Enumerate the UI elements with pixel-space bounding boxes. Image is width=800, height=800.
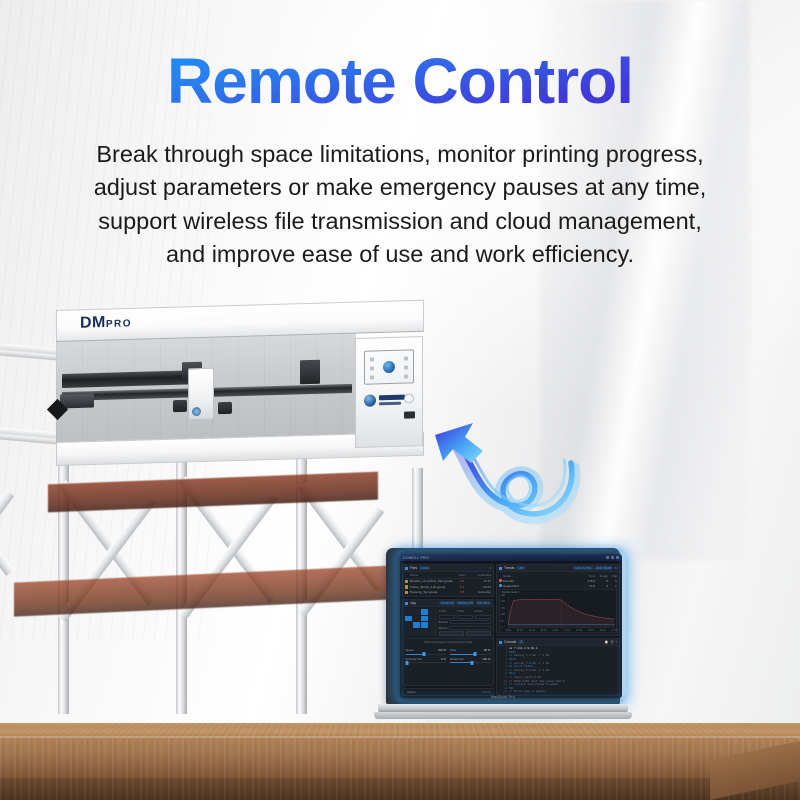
slider-speed-row: Speed 100 % — [406, 648, 447, 652]
move-icon — [405, 602, 408, 605]
files-panel: Files Local ▾ Name Size Uploaded — [402, 564, 494, 597]
chart-y-tick: 100 — [501, 613, 505, 616]
table-row[interactable]: Housing_Top.gcode 7.8 Yesterday — [405, 590, 491, 596]
dowell-3d-logo-subtext — [379, 402, 401, 406]
table-row[interactable]: Bracket_v4.stl Pick_Part.gcode 2.4 11:42 — [405, 579, 491, 585]
jog-panel: Jog Home All Motors Off Set Zero — [402, 599, 494, 686]
y-pos-field[interactable] — [457, 615, 473, 619]
touchscreen-icon — [370, 375, 374, 379]
files-panel-badge[interactable]: Local — [419, 566, 430, 570]
jog-button[interactable] — [405, 622, 412, 628]
trends-live-badge: Live — [516, 566, 525, 570]
chart-x-tick: 11:22 — [505, 629, 511, 632]
chart-x-tick: 12:16 — [611, 629, 617, 632]
app-window-title: DOWELL PRO — [403, 556, 429, 560]
3d-printer: DMPRO — [0, 296, 430, 716]
printer-control-box[interactable] — [355, 336, 423, 448]
fan-duct — [173, 400, 187, 412]
table-row[interactable]: Extruder 178.2 0 C — [499, 578, 617, 583]
file-name: Frame_Mount_Left.gcode — [410, 585, 453, 589]
copy-icon[interactable]: 📋 — [605, 640, 609, 644]
jog-button[interactable] — [430, 622, 437, 628]
files-panel-header: Files Local ▾ — [403, 565, 493, 572]
jog-pad[interactable] — [405, 609, 437, 636]
slider-flow[interactable]: Flow 98 % — [450, 648, 491, 655]
console-actions[interactable]: 📋 🗑 ▾ — [605, 640, 617, 644]
slider-fill — [406, 654, 424, 655]
series-target[interactable]: 0 — [595, 579, 608, 583]
printer-brand-label: DMPRO — [80, 313, 132, 332]
col-name: Name — [503, 574, 582, 578]
touchscreen-icon — [404, 366, 408, 370]
touchscreen-icon — [370, 357, 374, 361]
extrude-label: Extrude — [439, 620, 449, 624]
jog-fields: X Pos Y Pos Z Pos Ext — [439, 609, 491, 636]
jog-panel-buttons[interactable]: Home All Motors Off Set Zero — [439, 601, 491, 605]
maximize-icon[interactable] — [611, 556, 614, 559]
console-badge: G — [518, 640, 523, 644]
auto-scale-button[interactable]: Auto Scale — [594, 566, 612, 570]
chart-x-tick: 11:28 — [517, 629, 523, 632]
files-panel-actions[interactable]: ▾ — [489, 566, 491, 570]
dowell-3d-logo-text — [379, 395, 405, 401]
jog-button-down[interactable] — [413, 622, 420, 628]
power-knob-icon[interactable] — [404, 393, 414, 403]
chart-svg — [500, 590, 616, 632]
trends-panel-title: Trends — [504, 566, 514, 570]
subtitle-line-3: support wireless file transmission and c… — [22, 205, 778, 238]
slider-model-fan[interactable]: Model Fan 100 % — [450, 657, 491, 664]
jog-step-button[interactable] — [405, 629, 412, 635]
jog-panel-title: Jog — [410, 601, 415, 605]
chart-y-tick: 150 — [501, 607, 505, 610]
console-output[interactable]: 1ok T:210.4 B:60.02M1053// moving X 4.00… — [497, 646, 619, 695]
file-uploaded: 09:05 — [471, 585, 491, 589]
jog-step-button[interactable] — [430, 629, 437, 635]
sd-card-slot-icon[interactable] — [404, 411, 415, 418]
file-size: 5.1 — [455, 585, 469, 589]
window-controls[interactable] — [606, 556, 619, 559]
slider-flow-row: Flow 98 % — [450, 648, 491, 652]
desk-underside — [0, 778, 800, 800]
chart-x-tick: 12:10 — [599, 629, 605, 632]
position-labels: X Pos Y Pos Z Pos — [439, 609, 491, 613]
home-all-button[interactable]: Home All — [439, 601, 455, 605]
status-badge: Ready — [482, 690, 491, 694]
slider-extruder-fan-row: Extruder Fan 0 % — [406, 657, 447, 661]
series-unit: C — [608, 584, 617, 588]
minimize-icon[interactable] — [606, 556, 609, 559]
slider-grid: Speed 100 % Flow — [403, 646, 493, 666]
extrude-row: Extrude — [439, 620, 491, 624]
file-uploaded: 11:42 — [471, 579, 491, 583]
file-size: 2.4 — [455, 579, 469, 583]
slider-speed[interactable]: Speed 100 % — [406, 648, 447, 655]
slider-extruder-fan-value: 0 % — [441, 657, 446, 661]
z-pos-label: Z Pos — [475, 609, 491, 613]
chevron-down-icon[interactable]: ▾ — [615, 640, 617, 644]
file-uploaded: Yesterday — [471, 590, 491, 594]
file-icon — [405, 585, 408, 589]
slider-knob[interactable] — [406, 661, 409, 665]
file-name: Housing_Top.gcode — [410, 590, 453, 594]
slider-fill — [450, 654, 475, 655]
laptop-model-label: MacBook Pro — [378, 695, 628, 699]
motors-off-button[interactable]: Motors Off — [456, 601, 474, 605]
table-row[interactable]: Heated Bed 24.0 0 C — [499, 583, 617, 588]
series-target[interactable]: 0 — [595, 584, 608, 588]
retract-label: Retract — [439, 626, 448, 630]
col-target: Target — [595, 574, 608, 578]
touchscreen-icon — [404, 375, 408, 379]
series-now: 24.0 — [582, 584, 595, 588]
x-pos-label: X Pos — [439, 609, 455, 613]
slider-model-fan-track[interactable] — [450, 662, 491, 663]
jog-hint: Click and drag to move the print head — [403, 638, 493, 646]
slider-knob[interactable] — [471, 661, 474, 665]
print-head — [188, 368, 214, 421]
slider-flow-track[interactable] — [450, 654, 491, 655]
jog-button[interactable] — [413, 609, 420, 615]
series-name: Extruder — [503, 579, 582, 583]
dowell-3d-logo-icon — [364, 394, 376, 406]
chart-x-tick: 11:58 — [576, 629, 582, 632]
console-panel-header: Console G 📋 🗑 ▾ — [497, 639, 619, 646]
trends-table: Name Now Target Unit Extruder 178.2 0 C — [497, 572, 619, 588]
col-size: Size — [455, 573, 469, 577]
jog-controls: X Pos Y Pos Z Pos Ext — [403, 607, 493, 638]
jog-panel-header: Jog Home All Motors Off Set Zero — [403, 600, 493, 607]
printer-print-bed — [48, 472, 378, 513]
series-name: Heated Bed — [503, 584, 582, 588]
files-panel-title: Files — [410, 566, 417, 570]
chart-y-tick: 200 — [501, 600, 505, 603]
wood-grain — [0, 778, 800, 800]
slider-fill — [450, 662, 472, 663]
slider-speed-value: 100 % — [438, 648, 446, 652]
app-title-bar: DOWELL PRO — [400, 554, 622, 562]
retract-row: Retract — [439, 626, 491, 630]
jog-step-button[interactable] — [413, 629, 420, 635]
chart-y-tick: 250 — [501, 594, 505, 597]
console-panel: Console G 📋 🗑 ▾ 1ok T:210.4 B:60.02M1053… — [496, 638, 620, 696]
col-now: Now — [582, 574, 595, 578]
col-unit: Unit — [608, 574, 617, 578]
slider-speed-label: Speed — [406, 648, 414, 652]
file-size: 7.8 — [455, 590, 469, 594]
wooden-desk — [0, 700, 800, 800]
app-body: Files Local ▾ Name Size Uploaded — [400, 562, 622, 698]
trends-toolbar[interactable]: Last 10 min Auto Scale ⚙ — [573, 566, 617, 570]
chart-y-tick: 50 — [501, 620, 504, 623]
jog-button[interactable] — [430, 616, 437, 622]
col-uploaded: Uploaded — [471, 573, 491, 577]
fan-duct — [218, 402, 232, 414]
stepper-motor-icon — [300, 360, 320, 385]
slider-extruder-fan[interactable]: Extruder Fan 0 % — [406, 657, 447, 664]
table-row[interactable]: Frame_Mount_Left.gcode 5.1 09:05 — [405, 584, 491, 590]
extrude-field[interactable] — [450, 620, 491, 624]
slider-flow-label: Flow — [450, 648, 456, 652]
slider-knob[interactable] — [474, 652, 477, 656]
spacer — [499, 574, 502, 577]
series-now: 178.2 — [582, 579, 595, 583]
jog-button[interactable] — [413, 616, 420, 622]
arrow-svg — [425, 405, 585, 530]
fan-icon — [192, 407, 201, 416]
file-icon — [405, 580, 408, 584]
console-panel-title: Console — [504, 640, 516, 644]
chart-x-tick: 11:40 — [541, 629, 547, 632]
subtitle-line-4: and improve ease of use and work efficie… — [22, 238, 778, 271]
printer-brace — [0, 490, 14, 592]
status-panel-title: Status — [407, 690, 416, 694]
wood-grain — [0, 738, 800, 778]
touchscreen-icon — [404, 357, 408, 361]
page-title: Remote Control — [0, 48, 800, 115]
chart-x-tick: 11:52 — [564, 629, 570, 632]
slider-knob[interactable] — [422, 652, 425, 656]
file-icon — [405, 591, 408, 595]
desk-front-edge — [0, 738, 800, 778]
files-list: Name Size Uploaded Bracket_v4.stl Pick_P… — [403, 572, 493, 596]
slider-speed-track[interactable] — [406, 654, 447, 655]
trends-table-header: Name Now Target Unit — [499, 573, 617, 578]
trends-panel-header: Trends Live Last 10 min Auto Scale ⚙ — [497, 565, 619, 572]
set-zero-button[interactable]: Set Zero — [476, 601, 491, 605]
laptop: DOWELL PRO Files Local — [378, 548, 628, 723]
x-pos-field[interactable] — [439, 615, 455, 619]
retract-button[interactable] — [466, 631, 491, 636]
printer-brace — [0, 474, 14, 576]
file-name: Bracket_v4.stl Pick_Part.gcode — [410, 579, 453, 583]
page-subtitle: Break through space limitations, monitor… — [22, 138, 778, 271]
touchscreen-icon — [370, 366, 374, 370]
printer-lower-bed — [14, 565, 394, 616]
brand-sub: PRO — [106, 318, 132, 330]
spacer — [405, 574, 408, 578]
left-column: Files Local ▾ Name Size Uploaded — [402, 564, 494, 696]
settings-icon[interactable]: ⚙ — [614, 566, 617, 570]
folder-icon — [405, 567, 408, 570]
console-line: 13// Print done 0 models — [499, 690, 617, 694]
touchscreen-center-icon — [383, 361, 395, 373]
slider-model-fan-label: Model Fan — [450, 657, 464, 661]
trash-icon[interactable]: 🗑 — [610, 640, 614, 644]
console-line-number: 13 — [499, 690, 507, 694]
jog-button-home[interactable] — [421, 616, 428, 622]
laptop-screen[interactable]: DOWELL PRO Files Local — [400, 554, 622, 698]
subtitle-line-1: Break through space limitations, monitor… — [22, 138, 778, 171]
desk-highlight-edge — [0, 736, 800, 738]
slider-flow-value: 98 % — [484, 648, 491, 652]
terminal-icon — [499, 641, 502, 644]
chart-icon — [499, 567, 502, 570]
brand-main: DM — [80, 314, 106, 332]
retract-field[interactable] — [449, 626, 491, 630]
z-pos-field[interactable] — [475, 615, 491, 619]
series-color-dot — [499, 579, 502, 582]
series-color-dot — [499, 584, 502, 587]
console-line-text: // retract and unload 0 gcode — [509, 683, 558, 687]
jog-step-button[interactable] — [421, 629, 428, 635]
series-unit: C — [608, 579, 617, 583]
temperature-chart[interactable]: Nozzle temp C 05010015020025011:2211:281… — [499, 589, 617, 633]
jog-button-up[interactable] — [421, 609, 428, 615]
right-column: Trends Live Last 10 min Auto Scale ⚙ — [496, 564, 620, 696]
extrude-button[interactable] — [439, 631, 464, 636]
chart-x-tick: 11:46 — [552, 629, 558, 632]
slider-model-fan-value: 100 % — [482, 657, 490, 661]
chart-y-tick: 0 — [501, 626, 502, 629]
chart-x-tick: 12:04 — [588, 629, 594, 632]
y-pos-label: Y Pos — [457, 609, 473, 613]
slider-extruder-fan-track[interactable] — [406, 662, 447, 663]
jog-button[interactable] — [405, 609, 412, 615]
curved-loop-arrow — [425, 405, 585, 530]
chart-x-tick: 11:34 — [529, 629, 535, 632]
close-icon[interactable] — [616, 556, 619, 559]
laptop-lid: DOWELL PRO Files Local — [386, 548, 620, 704]
chevron-down-icon[interactable]: ▾ — [489, 566, 491, 570]
printer-side-rail — [0, 415, 60, 444]
col-name: Name — [410, 573, 453, 577]
jog-button-right[interactable] — [421, 622, 428, 628]
console-line-text: // Print done 0 models — [509, 690, 546, 694]
time-range-button[interactable]: Last 10 min — [573, 566, 592, 570]
jog-button-left[interactable] — [405, 616, 412, 622]
extrude-actions — [439, 631, 491, 636]
printer-side-rail — [0, 331, 60, 360]
trends-panel: Trends Live Last 10 min Auto Scale ⚙ — [496, 564, 620, 636]
subtitle-line-2: adjust parameters or make emergency paus… — [22, 171, 778, 204]
printer-touchscreen[interactable] — [364, 349, 414, 384]
position-fields — [439, 615, 491, 619]
jog-button[interactable] — [430, 609, 437, 615]
